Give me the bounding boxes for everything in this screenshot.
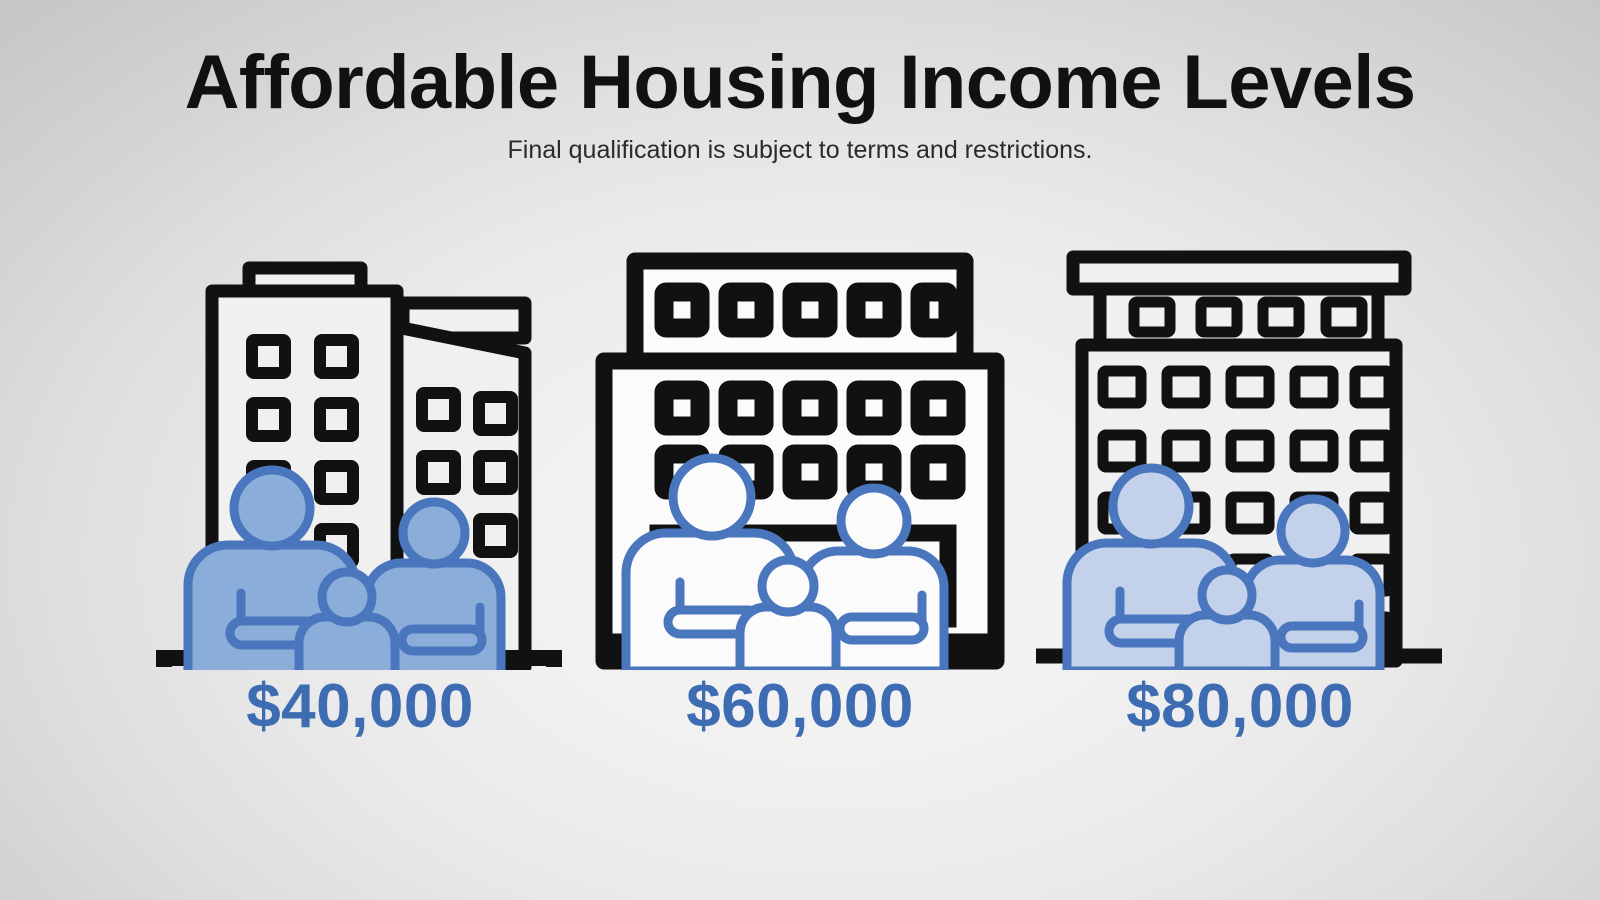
page-title: Affordable Housing Income Levels [0, 44, 1600, 122]
income-amount-label: $80,000 [1126, 676, 1354, 738]
income-amount-label: $40,000 [246, 676, 474, 738]
page-subtitle: Final qualification is subject to terms … [0, 136, 1600, 165]
income-tier-row: $40,000 [0, 245, 1600, 738]
header-block: Affordable Housing Income Levels Final q… [0, 44, 1600, 165]
income-tier-card: $60,000 [580, 245, 1020, 738]
high-rise-apartment-icon [1030, 245, 1450, 670]
twin-apartment-towers-icon [150, 245, 570, 670]
income-amount-label: $60,000 [686, 676, 914, 738]
infographic-canvas: Affordable Housing Income Levels Final q… [0, 0, 1600, 900]
income-tier-card: $40,000 [140, 245, 580, 738]
mid-rise-apartment-icon [590, 245, 1010, 670]
income-tier-card: $80,000 [1020, 245, 1460, 738]
